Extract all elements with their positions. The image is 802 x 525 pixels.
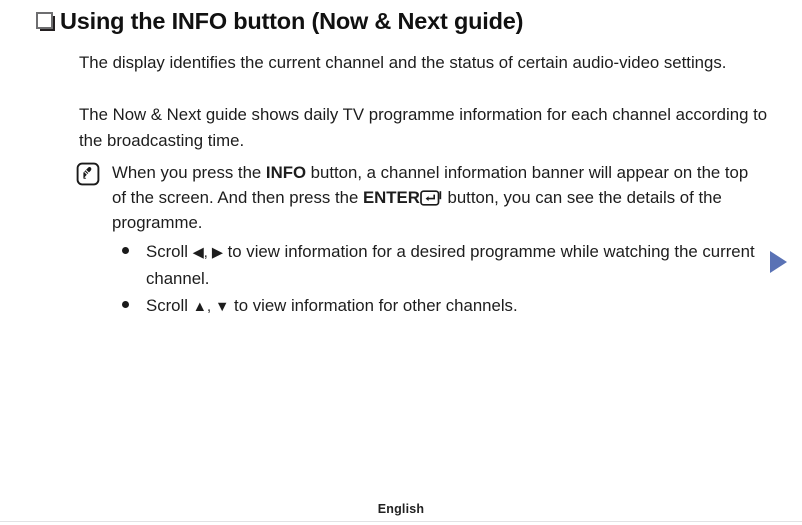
next-page-arrow-icon[interactable] [770,251,787,273]
round-bullet-icon [119,293,146,318]
enter-key-icon [420,189,442,206]
intro-paragraph-2: The Now & Next guide shows daily TV prog… [79,102,769,154]
page-title: Using the INFO button (Now & Next guide) [60,6,523,36]
list-item: Scroll ◀, ▶ to view information for a de… [119,239,769,291]
note-text: When you press the INFO button, a channe… [112,160,762,235]
shadow-square-bullet-icon [36,8,60,38]
list-item: Scroll ▲, ▼ to view information for othe… [119,293,769,320]
bullet-2-text-2: to view information for other channels. [229,296,517,315]
manual-page: Using the INFO button (Now & Next guide)… [0,0,802,525]
note-pencil-icon [76,162,100,186]
round-bullet-icon [119,239,146,264]
bullet-2-text-1: Scroll [146,296,193,315]
left-right-arrow-glyphs: ◀, ▶ [193,245,223,261]
intro-paragraph-1: The display identifies the current chann… [79,50,769,76]
page-heading: Using the INFO button (Now & Next guide) [36,6,523,38]
note-text-part-1: When you press the [112,163,266,182]
up-down-arrow-glyphs: ▲, ▼ [193,299,230,315]
note-block: When you press the INFO button, a channe… [76,160,776,235]
footer-divider [0,521,802,522]
list-item-text: Scroll ▲, ▼ to view information for othe… [146,293,769,320]
bullet-list: Scroll ◀, ▶ to view information for a de… [119,239,769,322]
bullet-1-text-1: Scroll [146,242,193,261]
list-item-text: Scroll ◀, ▶ to view information for a de… [146,239,769,291]
note-bold-enter: ENTER [363,188,420,207]
note-bold-info: INFO [266,163,306,182]
bullet-1-text-2: to view information for a desired progra… [146,242,755,288]
footer-language-label: English [0,502,802,516]
